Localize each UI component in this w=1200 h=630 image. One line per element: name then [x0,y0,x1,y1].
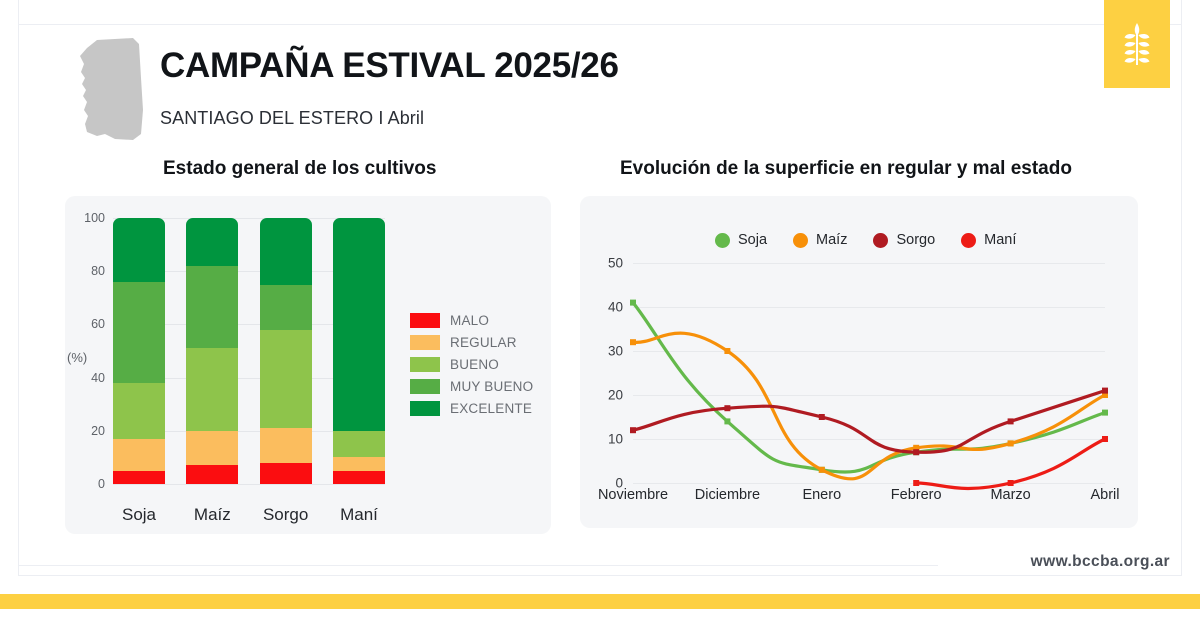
bar-stack-sorgo[interactable] [260,218,312,484]
line-legend-label: Maíz [816,232,847,248]
bar-chart-y-tick: 0 [65,477,105,491]
bar-legend-label: MUY BUENO [450,379,533,394]
bar-legend-item-malo[interactable]: MALO [410,309,533,331]
legend-dot-icon [873,233,888,248]
line-legend-item-maní[interactable]: Maní [961,232,1016,248]
line-legend-label: Soja [738,232,767,248]
line-chart-gridline [633,483,1105,484]
bar-segment-regular [113,439,165,471]
bar-legend-label: REGULAR [450,335,517,350]
bar-legend-label: MALO [450,313,489,328]
line-chart-y-tick: 50 [591,256,623,271]
line-data-point[interactable] [1008,480,1014,486]
bar-legend-label: EXCELENTE [450,401,532,416]
legend-swatch-icon [410,335,440,350]
bar-segment-malo [333,471,385,484]
line-chart-y-tick: 20 [591,388,623,403]
brand-badge [1104,0,1170,88]
footer-divider [18,565,938,566]
line-legend-label: Maní [984,232,1016,248]
bar-chart-y-tick: 60 [65,317,105,331]
santiago-del-estero-map-icon [75,38,147,142]
line-data-point[interactable] [724,348,730,354]
line-chart-y-tick: 30 [591,344,623,359]
bar-chart-heading: Estado general de los cultivos [163,158,436,180]
line-chart-x-tick: Abril [1050,487,1160,503]
bar-stack-maní[interactable] [333,218,385,484]
bar-legend-item-muy-bueno[interactable]: MUY BUENO [410,376,533,398]
bar-segment-excelente [333,218,385,431]
bar-segment-malo [113,471,165,484]
bar-segment-muy-bueno [113,282,165,383]
bar-segment-bueno [113,383,165,439]
line-chart-legend: SojaMaízSorgoManí [715,232,1016,248]
line-chart-y-tick: 10 [591,432,623,447]
bar-chart-legend: MALOREGULARBUENOMUY BUENOEXCELENTE [410,309,533,420]
bar-chart-y-tick: 40 [65,371,105,385]
legend-dot-icon [793,233,808,248]
line-data-point[interactable] [913,480,919,486]
bar-segment-malo [260,463,312,484]
bar-segment-excelente [113,218,165,282]
bar-segment-regular [260,428,312,463]
bar-legend-item-excelente[interactable]: EXCELENTE [410,398,533,420]
bar-stack-maíz[interactable] [186,218,238,484]
line-data-point[interactable] [630,300,636,306]
frame-line-top [18,24,1182,25]
line-chart-plot [633,263,1105,483]
footer-url: www.bccba.org.ar [1031,553,1170,571]
line-data-point[interactable] [630,427,636,433]
page-title: CAMPAÑA ESTIVAL 2025/26 [160,46,619,86]
line-data-point[interactable] [819,414,825,420]
line-legend-label: Sorgo [896,232,935,248]
bar-legend-item-bueno[interactable]: BUENO [410,353,533,375]
legend-swatch-icon [410,357,440,372]
line-data-point[interactable] [913,449,919,455]
bar-chart-plot [113,218,385,484]
bar-chart-x-tick: Soja [101,505,177,525]
bar-chart-gridline [113,484,385,485]
page-subtitle: SANTIAGO DEL ESTERO I Abril [160,108,424,129]
bar-segment-bueno [186,348,238,430]
line-data-point[interactable] [1008,440,1014,446]
bar-segment-muy-bueno [186,266,238,348]
bar-chart-y-tick: 100 [65,211,105,225]
line-data-point[interactable] [1008,418,1014,424]
bar-segment-bueno [333,431,385,458]
line-chart-series-layer [633,263,1105,483]
line-data-point[interactable] [1102,388,1108,394]
line-data-point[interactable] [1102,410,1108,416]
bar-segment-bueno [260,330,312,428]
frame-line-bottom [18,575,1182,576]
bar-legend-label: BUENO [450,357,499,372]
bar-segment-malo [186,465,238,484]
bar-chart-y-tick: 20 [65,424,105,438]
bar-segment-regular [333,457,385,470]
line-data-point[interactable] [819,467,825,473]
line-series-soja [633,303,1105,472]
infographic-root: CAMPAÑA ESTIVAL 2025/26 SANTIAGO DEL EST… [0,0,1200,630]
legend-swatch-icon [410,379,440,394]
bar-legend-item-regular[interactable]: REGULAR [410,331,533,353]
bar-chart-x-tick: Sorgo [248,505,324,525]
legend-dot-icon [961,233,976,248]
bar-chart-y-axis-label: (%) [67,350,87,365]
wheat-stalk-icon [1122,21,1152,67]
legend-dot-icon [715,233,730,248]
bar-chart-y-tick: 80 [65,264,105,278]
line-data-point[interactable] [724,405,730,411]
frame-line-right [1181,0,1182,576]
bar-stack-soja[interactable] [113,218,165,484]
bar-segment-excelente [186,218,238,266]
line-data-point[interactable] [724,418,730,424]
bar-segment-excelente [260,218,312,285]
frame-line-left [18,0,19,576]
line-chart-y-tick: 40 [591,300,623,315]
line-data-point[interactable] [1102,436,1108,442]
bar-segment-muy-bueno [260,285,312,330]
line-legend-item-soja[interactable]: Soja [715,232,767,248]
legend-swatch-icon [410,313,440,328]
legend-swatch-icon [410,401,440,416]
bottom-accent-bar [0,594,1200,609]
line-series-maíz [633,333,1105,479]
line-legend-item-maíz[interactable]: Maíz [793,232,847,248]
line-chart-heading: Evolución de la superficie en regular y … [620,158,1072,180]
bar-chart-x-tick: Maní [321,505,397,525]
bar-segment-regular [186,431,238,466]
line-legend-item-sorgo[interactable]: Sorgo [873,232,935,248]
line-data-point[interactable] [630,339,636,345]
bar-chart-x-tick: Maíz [174,505,250,525]
